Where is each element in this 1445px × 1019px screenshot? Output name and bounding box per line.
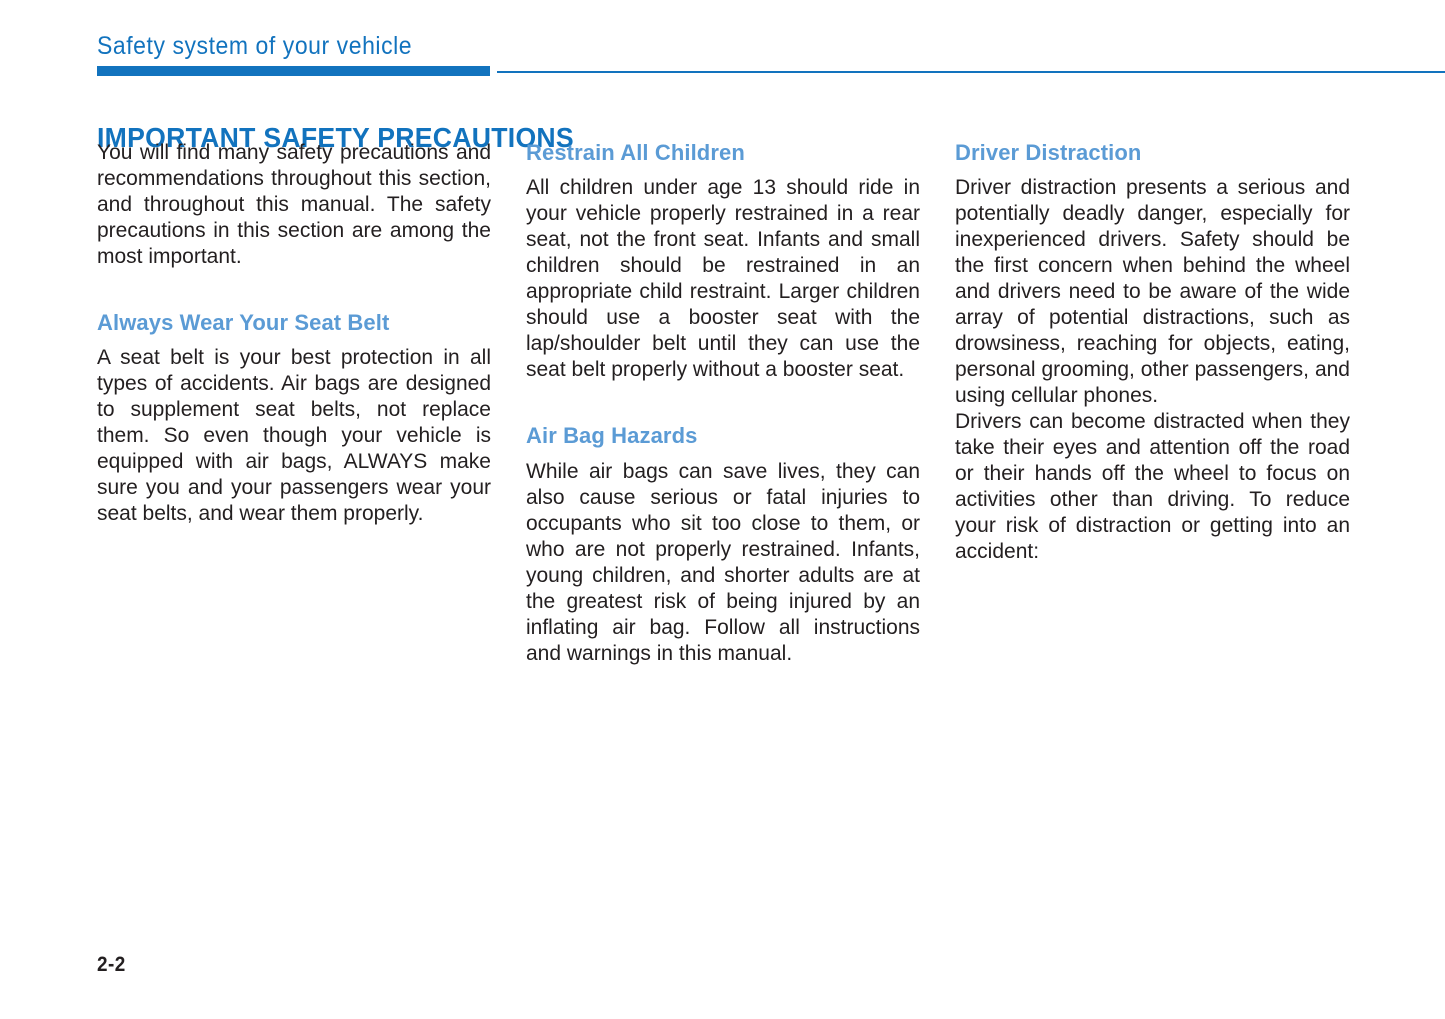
subheading-always-wear-your-seat-belt: Always Wear Your Seat Belt <box>97 310 491 335</box>
content-columns: You will find many safety precautions an… <box>97 140 1350 667</box>
paragraph: Drivers can become distracted when they … <box>955 409 1350 565</box>
subheading-air-bag-hazards: Air Bag Hazards <box>526 423 920 448</box>
column-2: Restrain All Children All children under… <box>526 140 920 667</box>
page-number: 2-2 <box>97 953 126 977</box>
paragraph: Driver distraction presents a serious an… <box>955 175 1350 409</box>
manual-page: Safety system of your vehicle IMPORTANT … <box>0 0 1445 1019</box>
subheading-driver-distraction: Driver Distraction <box>955 140 1350 165</box>
column-3: Driver Distraction Driver distraction pr… <box>955 140 1350 667</box>
column-1: You will find many safety precautions an… <box>97 140 491 667</box>
header-rule-thin <box>497 71 1445 73</box>
header-rule-thick <box>97 66 490 76</box>
paragraph: All children under age 13 should ride in… <box>526 175 920 383</box>
paragraph: While air bags can save lives, they can … <box>526 459 920 667</box>
paragraph: A seat belt is your best protection in a… <box>97 345 491 527</box>
subheading-restrain-all-children: Restrain All Children <box>526 140 920 165</box>
paragraph: You will find many safety precautions an… <box>97 140 491 270</box>
running-header: Safety system of your vehicle <box>97 32 1445 78</box>
running-header-title: Safety system of your vehicle <box>97 32 412 61</box>
